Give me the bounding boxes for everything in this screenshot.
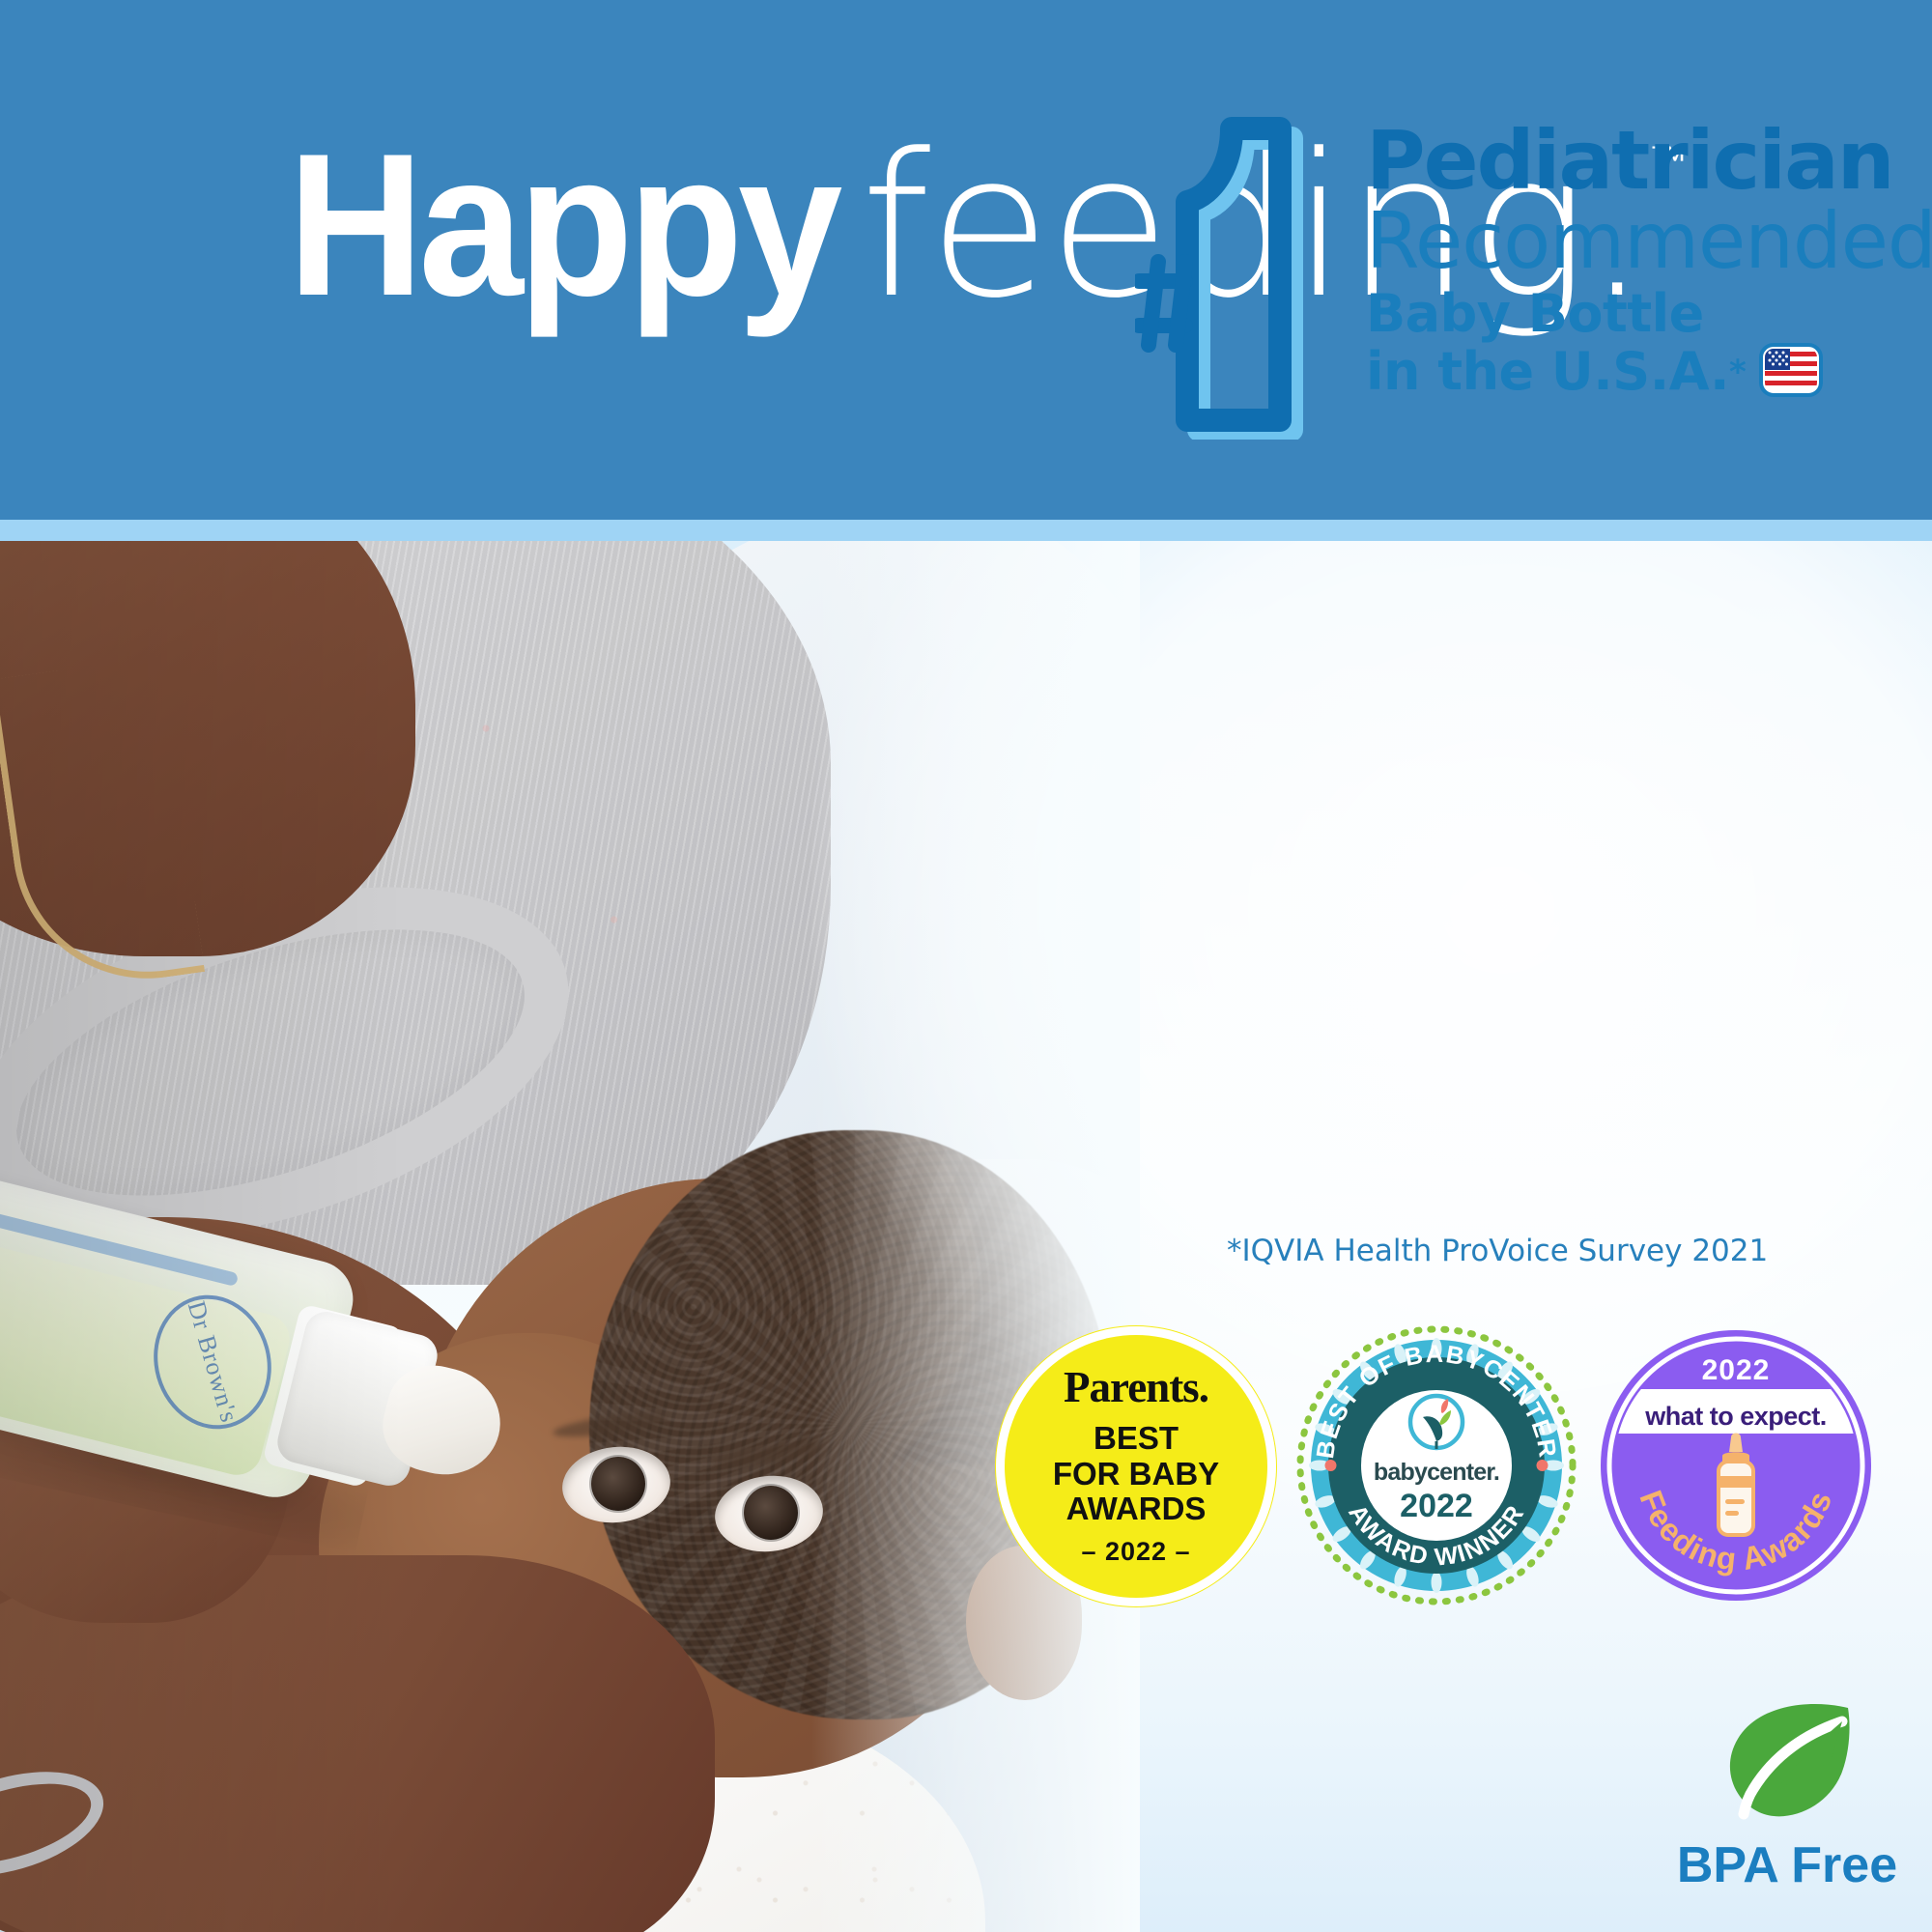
pediatrician-recommended-badge: Pediatrician Recommended Baby Bottle in … — [1135, 101, 1932, 440]
babycenter-side-dot-left — [1325, 1460, 1337, 1471]
parents-line-2: FOR BABY — [1053, 1457, 1219, 1492]
badge-line-usa-row: in the U.S.A.* — [1366, 343, 1932, 401]
header-divider-stripe — [0, 520, 1932, 541]
babycenter-brand-text: babycenter. — [1374, 1459, 1499, 1486]
parents-line-1: BEST — [1094, 1421, 1179, 1457]
advertisement-poster: Happyfeeding.™ — [0, 0, 1932, 1932]
green-leaf-icon — [1715, 1700, 1860, 1831]
parents-line-3: AWARDS — [1066, 1492, 1207, 1527]
pediatrician-text-block: Pediatrician Recommended Baby Bottle in … — [1366, 101, 1932, 401]
page-title-bold: Happy — [288, 124, 838, 327]
parents-brand-logo: Parents. — [1064, 1366, 1208, 1409]
us-flag-icon — [1759, 343, 1823, 397]
survey-footnote: *IQVIA Health ProVoice Survey 2021 — [1227, 1234, 1768, 1268]
bpa-free-badge: BPA Free — [1647, 1700, 1927, 1922]
badge-line-pediatrician: Pediatrician — [1366, 123, 1932, 200]
babycenter-year-text: 2022 — [1400, 1488, 1473, 1524]
badge-line-in-the-usa: in the U.S.A. — [1366, 341, 1729, 402]
award-badges-row: Parents. BEST FOR BABY AWARDS – 2022 – — [1005, 1325, 1874, 1605]
wte-year-text: 2022 — [1702, 1354, 1771, 1386]
award-badge-what-to-expect: 2022 what to expect. Feeding Awards — [1596, 1325, 1876, 1605]
award-badge-parents: Parents. BEST FOR BABY AWARDS – 2022 – — [1005, 1335, 1267, 1598]
hero-photo: Dr Brown's — [0, 541, 1140, 1932]
badge-line-recommended: Recommended — [1366, 202, 1932, 281]
award-badge-babycenter: BEST OF BABYCENTER AWARD WINNER babycent… — [1296, 1325, 1577, 1605]
number-one-graphic — [1135, 101, 1352, 440]
baby-iris-left — [591, 1457, 645, 1511]
photo-fade-edge — [811, 541, 1140, 1932]
bpa-free-label: BPA Free — [1677, 1836, 1897, 1894]
baby-iris-right — [744, 1486, 798, 1540]
wte-brand-text: what to expect. — [1644, 1402, 1827, 1431]
babycenter-side-dot-right — [1537, 1460, 1548, 1471]
badge-line-baby-bottle: Baby Bottle — [1366, 286, 1932, 342]
badge-asterisk: * — [1729, 354, 1746, 392]
parents-year: – 2022 – — [1081, 1537, 1190, 1567]
